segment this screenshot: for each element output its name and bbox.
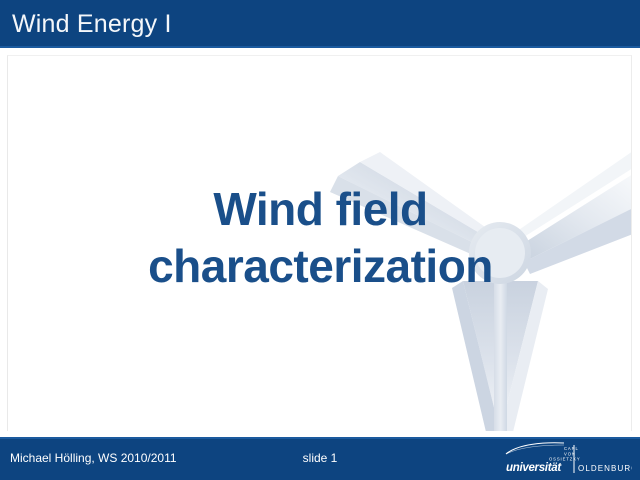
logo-word-oldenburg: OLDENBURG [578,464,632,473]
logo-line-carl: CARL [564,446,579,451]
slide-title-line-1: Wind field [8,181,632,238]
university-oldenburg-logo: CARL VON OSSIETZKY universität OLDENBURG [504,442,632,475]
slide-title: Wind field characterization [8,181,632,295]
logo-swoosh-icon [506,443,564,454]
slide-header-bar: Wind Energy I [0,0,640,48]
presentation-slide: Wind Energy I [0,0,640,480]
slide-footer-bar: Michael Hölling, WS 2010/2011 slide 1 CA… [0,437,640,480]
course-title: Wind Energy I [12,8,172,40]
slide-title-line-2: characterization [8,238,632,295]
slide-content-panel: Wind field characterization [7,55,632,431]
logo-word-universitaet: universität [506,462,562,474]
logo-line-ossietzky: OSSIETZKY [549,457,581,462]
turbine-blade-lower [452,281,548,431]
